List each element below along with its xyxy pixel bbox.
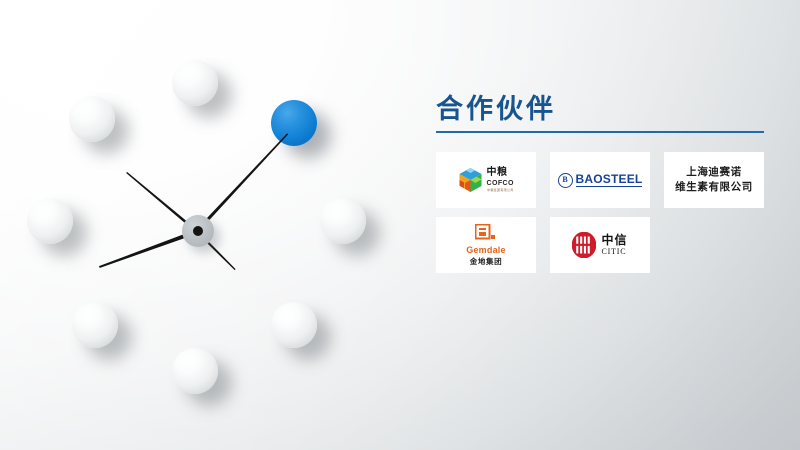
clock-marker-5	[172, 348, 218, 394]
clock-marker-8	[27, 198, 73, 244]
citic-emblem-icon	[572, 232, 596, 258]
disainuo-line-2: 维生素有限公司	[675, 180, 753, 195]
slide-canvas: 合作伙伴	[0, 0, 800, 450]
partners-panel: 合作伙伴	[432, 92, 776, 273]
cofco-name-cn: 中粮	[487, 168, 515, 178]
gemdale-logo: Gemdale 金地集团	[466, 224, 505, 266]
citic-name-cn: 中信	[601, 234, 627, 246]
clock-center-cap	[193, 226, 203, 236]
gemdale-name-cn: 金地集团	[466, 258, 505, 266]
baosteel-wordmark: BAOSTEEL	[576, 173, 643, 188]
page-title: 合作伙伴	[432, 92, 776, 126]
cofco-cube-icon	[458, 167, 483, 193]
clock-marker-4	[271, 302, 317, 348]
partner-card-gemdale[interactable]: Gemdale 金地集团	[436, 217, 536, 273]
clock-marker-7	[72, 302, 118, 348]
clock-minute-hand	[195, 132, 290, 233]
baosteel-logo: B BAOSTEEL	[558, 173, 643, 188]
citic-logo: 中信 CITIC	[572, 232, 627, 258]
partner-logo-grid: 中粮 COFCO 中粮集团有限公司 B BAOSTEEL 上海迪赛诺 维生素有限…	[436, 152, 776, 273]
baosteel-emblem-icon: B	[558, 173, 573, 188]
disainuo-line-1: 上海迪赛诺	[675, 165, 753, 180]
partner-card-citic[interactable]: 中信 CITIC	[550, 217, 650, 273]
partner-card-empty-slot	[664, 217, 764, 273]
citic-name-en: CITIC	[601, 248, 627, 256]
partner-card-baosteel[interactable]: B BAOSTEEL	[550, 152, 650, 208]
citic-wordmark: 中信 CITIC	[601, 234, 627, 256]
title-underline	[436, 131, 764, 133]
cofco-logo: 中粮 COFCO 中粮集团有限公司	[458, 167, 515, 193]
gemdale-name-en: Gemdale	[466, 246, 505, 255]
clock-marker-1-highlighted	[271, 100, 317, 146]
partner-card-cofco[interactable]: 中粮 COFCO 中粮集团有限公司	[436, 152, 536, 208]
cofco-wordmark: 中粮 COFCO 中粮集团有限公司	[487, 168, 515, 192]
clock-marker-12	[172, 60, 218, 106]
disainuo-wordmark: 上海迪赛诺 维生素有限公司	[675, 165, 753, 195]
cofco-subtitle: 中粮集团有限公司	[487, 189, 514, 192]
gemdale-mark-icon	[466, 224, 505, 243]
cofco-name-en: COFCO	[487, 180, 515, 187]
clock-marker-2	[320, 198, 366, 244]
clock-marker-10	[69, 96, 115, 142]
wall-clock-image	[20, 48, 380, 403]
partner-card-disainuo[interactable]: 上海迪赛诺 维生素有限公司	[664, 152, 764, 208]
